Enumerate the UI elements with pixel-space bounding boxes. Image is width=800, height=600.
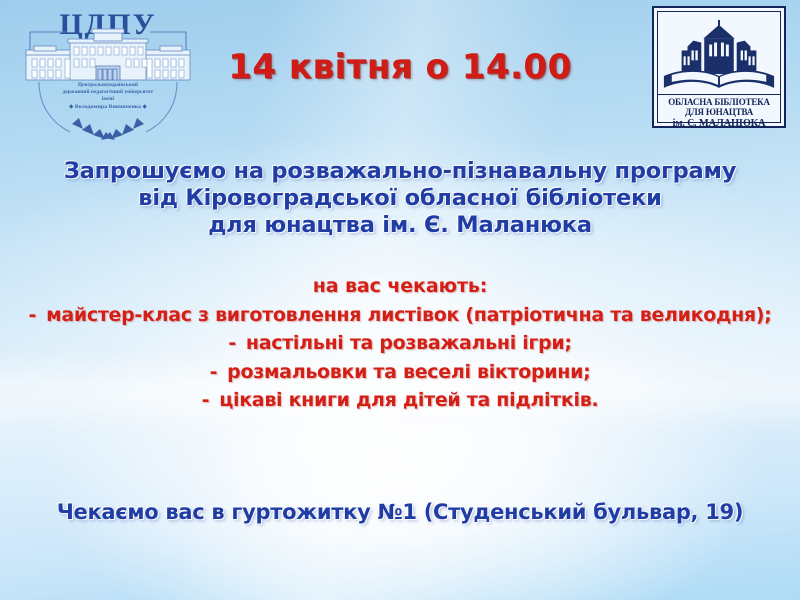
venue-footer-line: Чекаємо вас в гуртожитку №1 (Студенський…: [0, 500, 800, 524]
program-item-text: цікаві книги для дітей та підлітків.: [219, 389, 598, 411]
event-date-title: 14 квітня о 14.00: [0, 47, 800, 87]
program-list-item: -майстер-клас з виготовлення листівок (п…: [0, 301, 800, 330]
invitation-line-1: Запрошуємо на розважально-пізнавальну пр…: [0, 158, 800, 185]
invitation-line-2: від Кіровоградської обласної бібліотеки: [0, 185, 800, 212]
bullet-dash: -: [210, 361, 218, 383]
program-lead-in: на вас чекають:: [0, 272, 800, 301]
program-list-block: на вас чекають: -майстер-клас з виготовл…: [0, 272, 800, 415]
program-item-text: настільні та розважальні ігри;: [246, 332, 572, 354]
bullet-dash: -: [202, 389, 210, 411]
program-list-item: -цікаві книги для дітей та підлітків.: [0, 386, 800, 415]
library-caption-line2: ДЛЯ ЮНАЦТВА: [660, 107, 778, 118]
bullet-dash: -: [228, 332, 236, 354]
invitation-line-3: для юнацтва ім. Є. Маланюка: [0, 212, 800, 239]
library-caption-line1: ОБЛАСНА БІБЛІОТЕКА: [660, 97, 778, 108]
library-caption-line3: ім. Є. МАЛАНЮКА: [660, 118, 778, 130]
bullet-dash: -: [29, 304, 37, 326]
program-list-item: -настільні та розважальні ігри;: [0, 329, 800, 358]
program-list-item: -розмальовки та веселі вікторини;: [0, 358, 800, 387]
poster-canvas: ЦДПУ: [0, 0, 800, 600]
invitation-heading: Запрошуємо на розважально-пізнавальну пр…: [0, 158, 800, 239]
program-item-text: розмальовки та веселі вікторини;: [227, 361, 590, 383]
program-item-text: майстер-клас з виготовлення листівок (па…: [46, 304, 771, 326]
library-emblem-caption: ОБЛАСНА БІБЛІОТЕКА ДЛЯ ЮНАЦТВА ім. Є. МА…: [658, 94, 780, 133]
